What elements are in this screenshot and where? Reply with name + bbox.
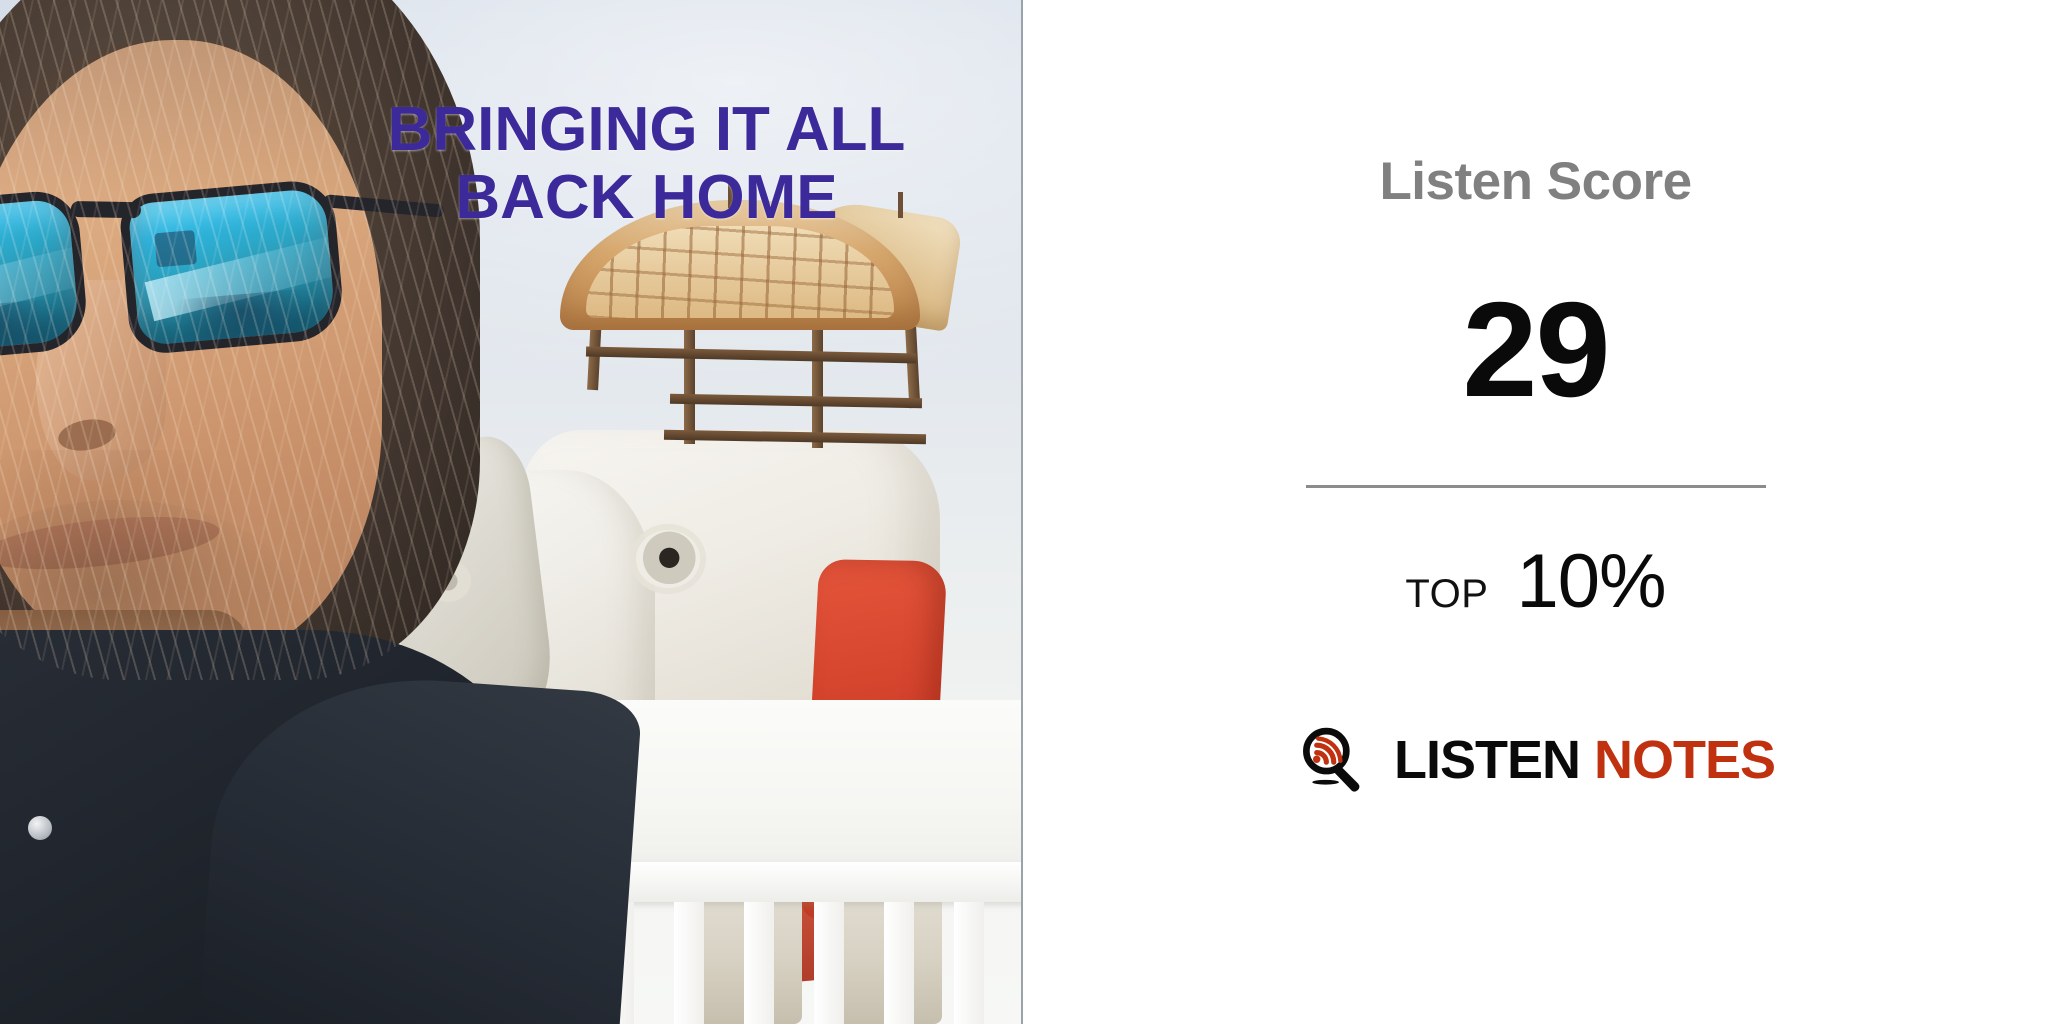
listen-score-rank: TOP 10%: [1405, 538, 1665, 625]
elephant-eye: [636, 530, 700, 588]
listen-score-value: 29: [1462, 282, 1608, 417]
podcast-cover-art[interactable]: BRINGING IT ALL BACK HOME: [0, 0, 1023, 1024]
howdah-rail: [664, 430, 926, 445]
cover-art-title-line-2: BACK HOME: [270, 164, 1023, 232]
logo-word-listen: LISTEN: [1394, 730, 1580, 790]
logo-word-notes: NOTES: [1594, 730, 1775, 790]
railing-picket: [884, 902, 914, 1024]
cover-art-title: BRINGING IT ALL BACK HOME: [0, 96, 1023, 232]
rank-percentile: 10%: [1516, 538, 1665, 625]
rank-label: TOP: [1405, 572, 1488, 617]
railing-picket: [954, 902, 984, 1024]
howdah-rail: [586, 347, 916, 364]
railing-picket: [674, 902, 704, 1024]
cover-art-scene: BRINGING IT ALL BACK HOME: [0, 0, 1021, 1024]
listen-score-widget: BRINGING IT ALL BACK HOME Listen Score 2…: [0, 0, 2048, 1024]
railing-picket: [814, 902, 844, 1024]
listen-notes-logo[interactable]: LISTENNOTES: [1296, 723, 1775, 797]
listen-score-panel: Listen Score 29 TOP 10% LISTENNO: [1023, 0, 2048, 1024]
jacket-button: [28, 816, 52, 840]
score-divider: [1306, 485, 1766, 488]
listen-score-heading: Listen Score: [1379, 155, 1691, 208]
railing-picket: [744, 902, 774, 1024]
cover-art-title-line-1: BRINGING IT ALL: [388, 95, 906, 164]
magnifier-rss-icon: [1296, 723, 1370, 797]
listen-notes-wordmark: LISTENNOTES: [1394, 733, 1775, 787]
howdah-rail: [670, 394, 922, 408]
howdah-pavilion: [560, 200, 960, 460]
